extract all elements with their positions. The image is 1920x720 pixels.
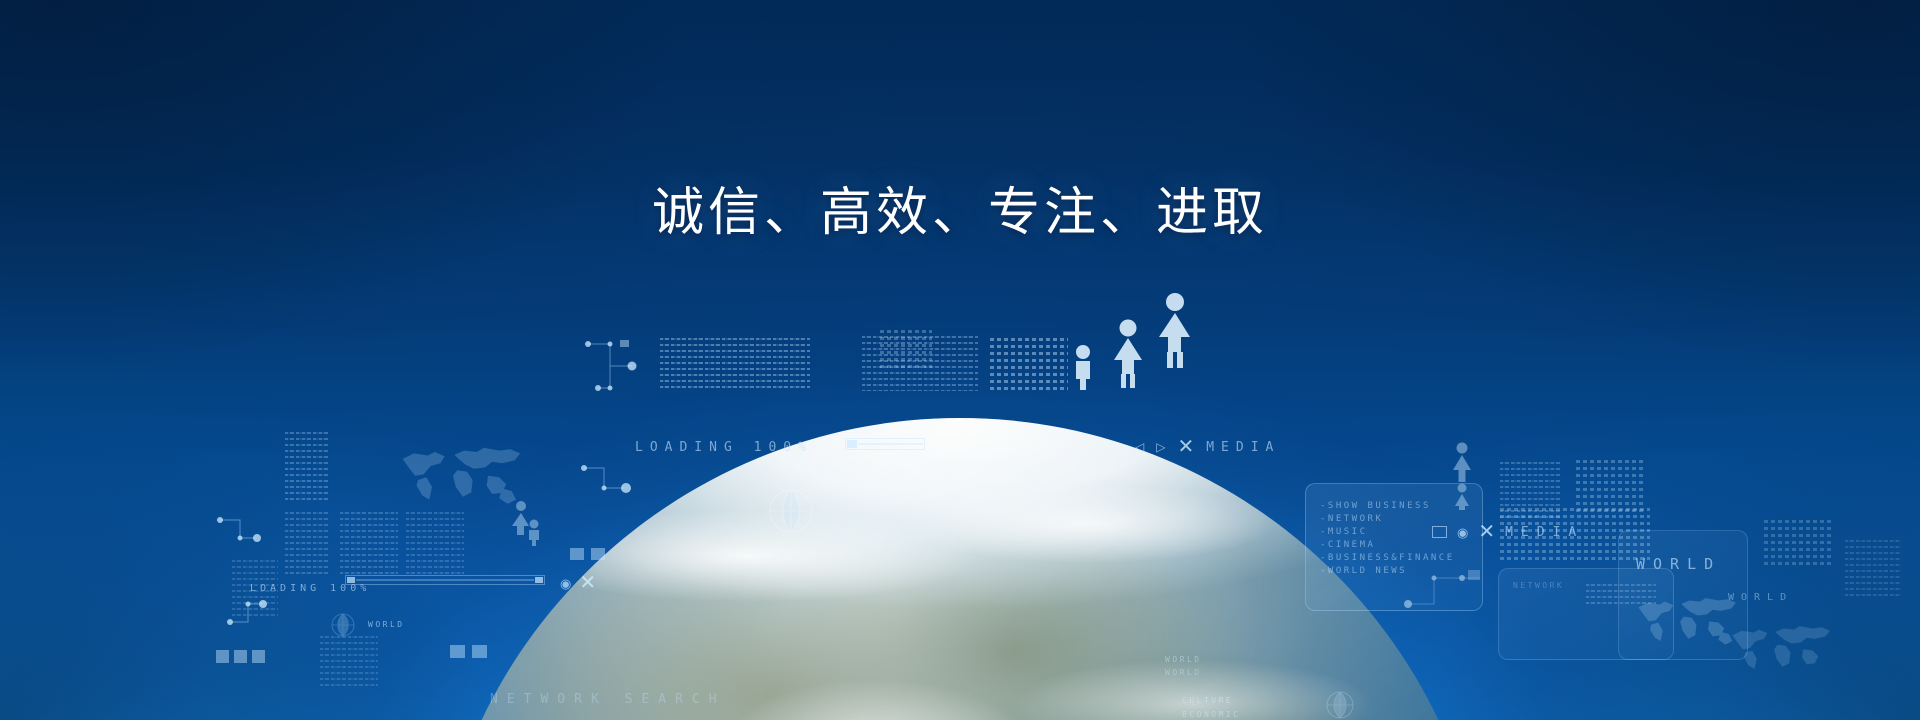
earth-globe — [430, 418, 1490, 720]
right-binary-block-3 — [1764, 520, 1834, 566]
left-text-block-6 — [320, 636, 378, 690]
menu-item-network[interactable]: -NETWORK — [1320, 513, 1482, 526]
data-binary-block-1 — [990, 338, 1068, 390]
world-label-2: WORLD — [1728, 592, 1793, 603]
media-category-panel[interactable]: -SHOW BUSINESS -NETWORK -MUSIC -CINEMA -… — [1305, 483, 1483, 611]
world-map-right-1 — [1628, 588, 1744, 650]
play-left-icon: ◁ — [1135, 441, 1144, 453]
square-indicators-left — [216, 650, 265, 663]
right-info-panel-body: NETWORK — [1499, 569, 1673, 590]
globe-clouds — [430, 418, 1490, 720]
right-binary-block-2 — [1500, 508, 1650, 560]
right-text-block-3 — [1845, 540, 1901, 600]
menu-item-show-business[interactable]: -SHOW BUSINESS — [1320, 500, 1482, 513]
right-text-block-1 — [1500, 462, 1562, 518]
network-search-label: NETWORK SEARCH — [490, 692, 726, 707]
data-text-block-1 — [660, 338, 810, 390]
node-cluster-icon-right — [1400, 556, 1490, 616]
globe-atmosphere-glow — [340, 328, 1580, 720]
loading-upper-label: LOADING 100% — [635, 440, 813, 455]
network-tag-label: NETWORK — [1513, 581, 1673, 590]
square-indicator — [216, 650, 229, 663]
square-indicator — [234, 650, 247, 663]
eye-icon-right: ◉ — [1457, 526, 1468, 539]
globe-circuit-overlay — [430, 418, 1490, 720]
globe-grid-icon-center — [768, 488, 814, 534]
window-icon — [1432, 526, 1447, 538]
hero-banner: 诚信、高效、专注、进取 LOADING 100% — [0, 0, 1920, 720]
square-indicator — [472, 645, 487, 658]
left-text-block-4 — [406, 512, 464, 574]
data-binary-block-2 — [880, 330, 932, 370]
menu-item-music[interactable]: -MUSIC — [1320, 526, 1482, 539]
data-text-block-2 — [862, 336, 978, 391]
node-cluster-icon-far-left — [214, 512, 264, 552]
loading-lower-bar — [345, 575, 545, 585]
globe-grid-icon-left — [330, 612, 356, 638]
world-map-left — [390, 438, 530, 508]
square-indicators-left-2 — [450, 645, 487, 658]
close-icon: ✕ — [1177, 437, 1194, 457]
progress-fill — [858, 443, 923, 445]
media-strip-right: ◉ ✕ MEDIA — [1432, 522, 1584, 542]
vignette-overlay — [0, 0, 1920, 720]
close-icon-right: ✕ — [1478, 522, 1495, 542]
loading-lower-label: LOADING 100% — [250, 583, 370, 594]
progress-cap-right-lower — [535, 577, 543, 583]
globe-shading — [430, 418, 1490, 720]
node-cluster-icon-left — [578, 458, 638, 508]
progress-fill-lower — [356, 579, 534, 581]
world-small-label-3: WORLD — [1165, 668, 1202, 677]
progress-cap-left — [847, 440, 857, 448]
square-indicator — [450, 645, 465, 658]
square-indicator — [591, 548, 605, 560]
eye-icon-lower: ◉ — [560, 577, 571, 590]
right-info-panel[interactable]: NETWORK — [1498, 568, 1674, 660]
menu-item-cinema[interactable]: -CINEMA — [1320, 539, 1482, 552]
close-icon-lower: ✕ — [579, 573, 596, 593]
node-cluster-icon-left-lower — [222, 592, 272, 632]
media-strip-upper: ◁ ▷ ✕ MEDIA — [1135, 437, 1280, 457]
globe-grid-icon-right — [1325, 690, 1355, 720]
world-label-1: WORLD — [1636, 555, 1721, 573]
media-strip-lower-left: ◉ ✕ — [560, 573, 596, 593]
media-right-label: MEDIA — [1505, 525, 1584, 540]
progress-cap-left-lower — [347, 577, 355, 583]
square-indicators-center — [570, 548, 605, 560]
loading-lower-group: LOADING 100% — [250, 578, 370, 596]
people-icons-right — [1442, 440, 1482, 510]
left-text-block-5 — [232, 560, 278, 616]
media-category-list[interactable]: -SHOW BUSINESS -NETWORK -MUSIC -CINEMA -… — [1306, 484, 1482, 578]
world-small-label-2: WORLD — [1165, 655, 1202, 664]
globe-sphere — [430, 418, 1490, 720]
left-text-block-2 — [285, 512, 329, 574]
node-cluster-icon — [580, 332, 650, 402]
world-panel-1[interactable] — [1618, 530, 1748, 660]
loading-upper-group: LOADING 100% — [635, 438, 813, 456]
left-text-block-3 — [340, 512, 398, 574]
page-title: 诚信、高效、专注、进取 — [0, 170, 1920, 245]
square-indicator — [252, 650, 265, 663]
menu-item-world-news[interactable]: -WORLD NEWS — [1320, 565, 1482, 578]
play-right-icon: ▷ — [1156, 441, 1165, 453]
media-upper-label: MEDIA — [1206, 440, 1280, 455]
right-binary-block-1 — [1576, 460, 1644, 516]
world-small-label-1: WORLD — [368, 620, 405, 629]
loading-upper-bar — [845, 438, 925, 450]
people-icons-left — [512, 496, 542, 546]
economic-label: ECONOMIC — [1182, 710, 1241, 719]
menu-item-business-finance[interactable]: -BUSINESS&FINANCE — [1320, 552, 1482, 565]
right-text-block-2 — [1586, 584, 1656, 606]
square-indicator — [570, 548, 584, 560]
culture-label: CULTURE — [1182, 696, 1233, 705]
left-text-block-1 — [285, 432, 329, 504]
world-map-right-2 — [1722, 616, 1838, 678]
people-growth-icons — [1065, 290, 1195, 390]
